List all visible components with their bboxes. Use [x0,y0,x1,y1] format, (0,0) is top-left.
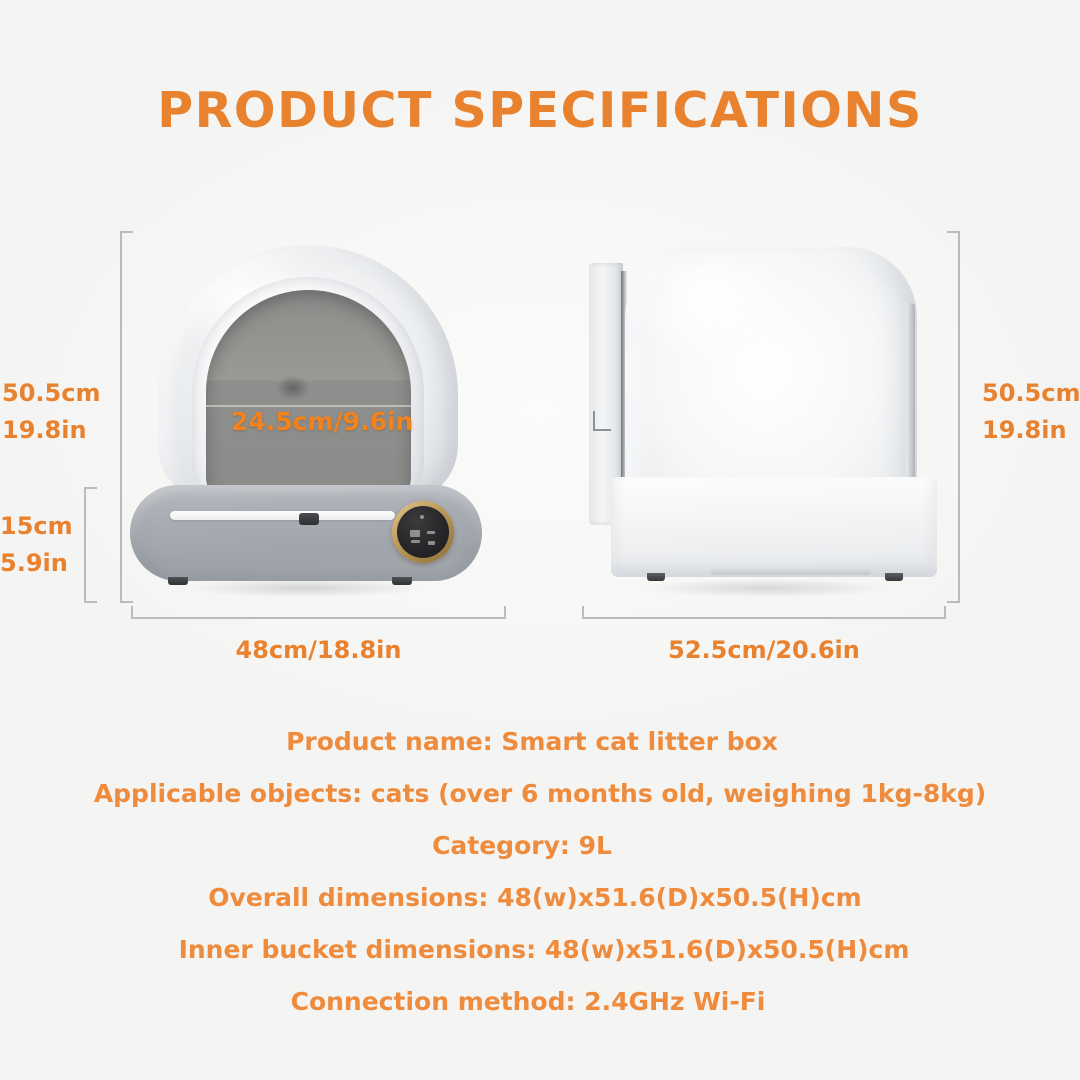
sensor-icon [299,513,319,525]
side-total-height-bracket [947,231,960,603]
side-total-height-label: 50.5cm 19.8in [982,375,1080,449]
display-indicator-dot-icon [420,515,424,519]
spec-text: Category: 9L [432,820,612,872]
front-width-label: 48cm/18.8in [131,632,506,669]
front-width-bracket [131,606,506,619]
specification-list: Product name: Smart cat litter box Appli… [0,716,1080,1028]
spec-row: Product name: Smart cat litter box [0,716,1080,768]
display-indicator-bar-icon [410,530,420,537]
spec-row: Inner bucket dimensions: 48(w)x51.6(D)x5… [0,924,1080,976]
side-width-bracket [582,606,946,619]
side-view-product-image [585,245,945,600]
spec-text: Connection method: 2.4GHz Wi-Fi [291,976,766,1028]
rear-panel-notch-icon [593,411,611,431]
side-base-unit [611,477,937,577]
spec-row: Connection method: 2.4GHz Wi-Fi [0,976,1080,1028]
spec-text: Inner bucket dimensions: 48(w)x51.6(D)x5… [179,924,910,976]
display-screen [397,506,449,558]
display-indicator-bar-icon [428,541,435,545]
spec-text: Product name: Smart cat litter box [286,716,778,768]
display-indicator-bar-icon [427,531,435,534]
front-total-height-bracket [120,231,133,603]
front-base-height-label: 15cm 5.9in [0,508,73,582]
display-indicator-bar-icon [411,540,420,543]
base-foot [885,573,903,581]
spec-text: Overall dimensions: 48(w)x51.6(D)x50.5(H… [208,872,861,924]
litter-box-entry-opening [206,290,411,503]
base-foot [168,577,188,585]
base-foot [647,573,665,581]
side-base-seam [711,569,871,575]
dimension-diagram: 50.5cm 19.8in 15cm 5.9in 24.5cm/9.6in 48… [0,0,1080,690]
spec-text: Applicable objects: cats (over 6 months … [94,768,986,820]
spec-row: Overall dimensions: 48(w)x51.6(D)x50.5(H… [0,872,1080,924]
front-opening-size-label: 24.5cm/9.6in [231,407,413,436]
product-specifications-page: PRODUCT SPECIFICATIONS [0,0,1080,1080]
circular-display-bezel [392,501,454,563]
spec-row: Applicable objects: cats (over 6 months … [0,768,1080,820]
spec-row: Category: 9L [0,820,1080,872]
base-foot [392,577,412,585]
front-total-height-label: 50.5cm 19.8in [2,375,100,449]
side-width-label: 52.5cm/20.6in [582,632,946,669]
front-base-height-bracket [84,487,97,603]
grey-base-unit [130,485,482,581]
base-slot-groove [170,511,395,520]
